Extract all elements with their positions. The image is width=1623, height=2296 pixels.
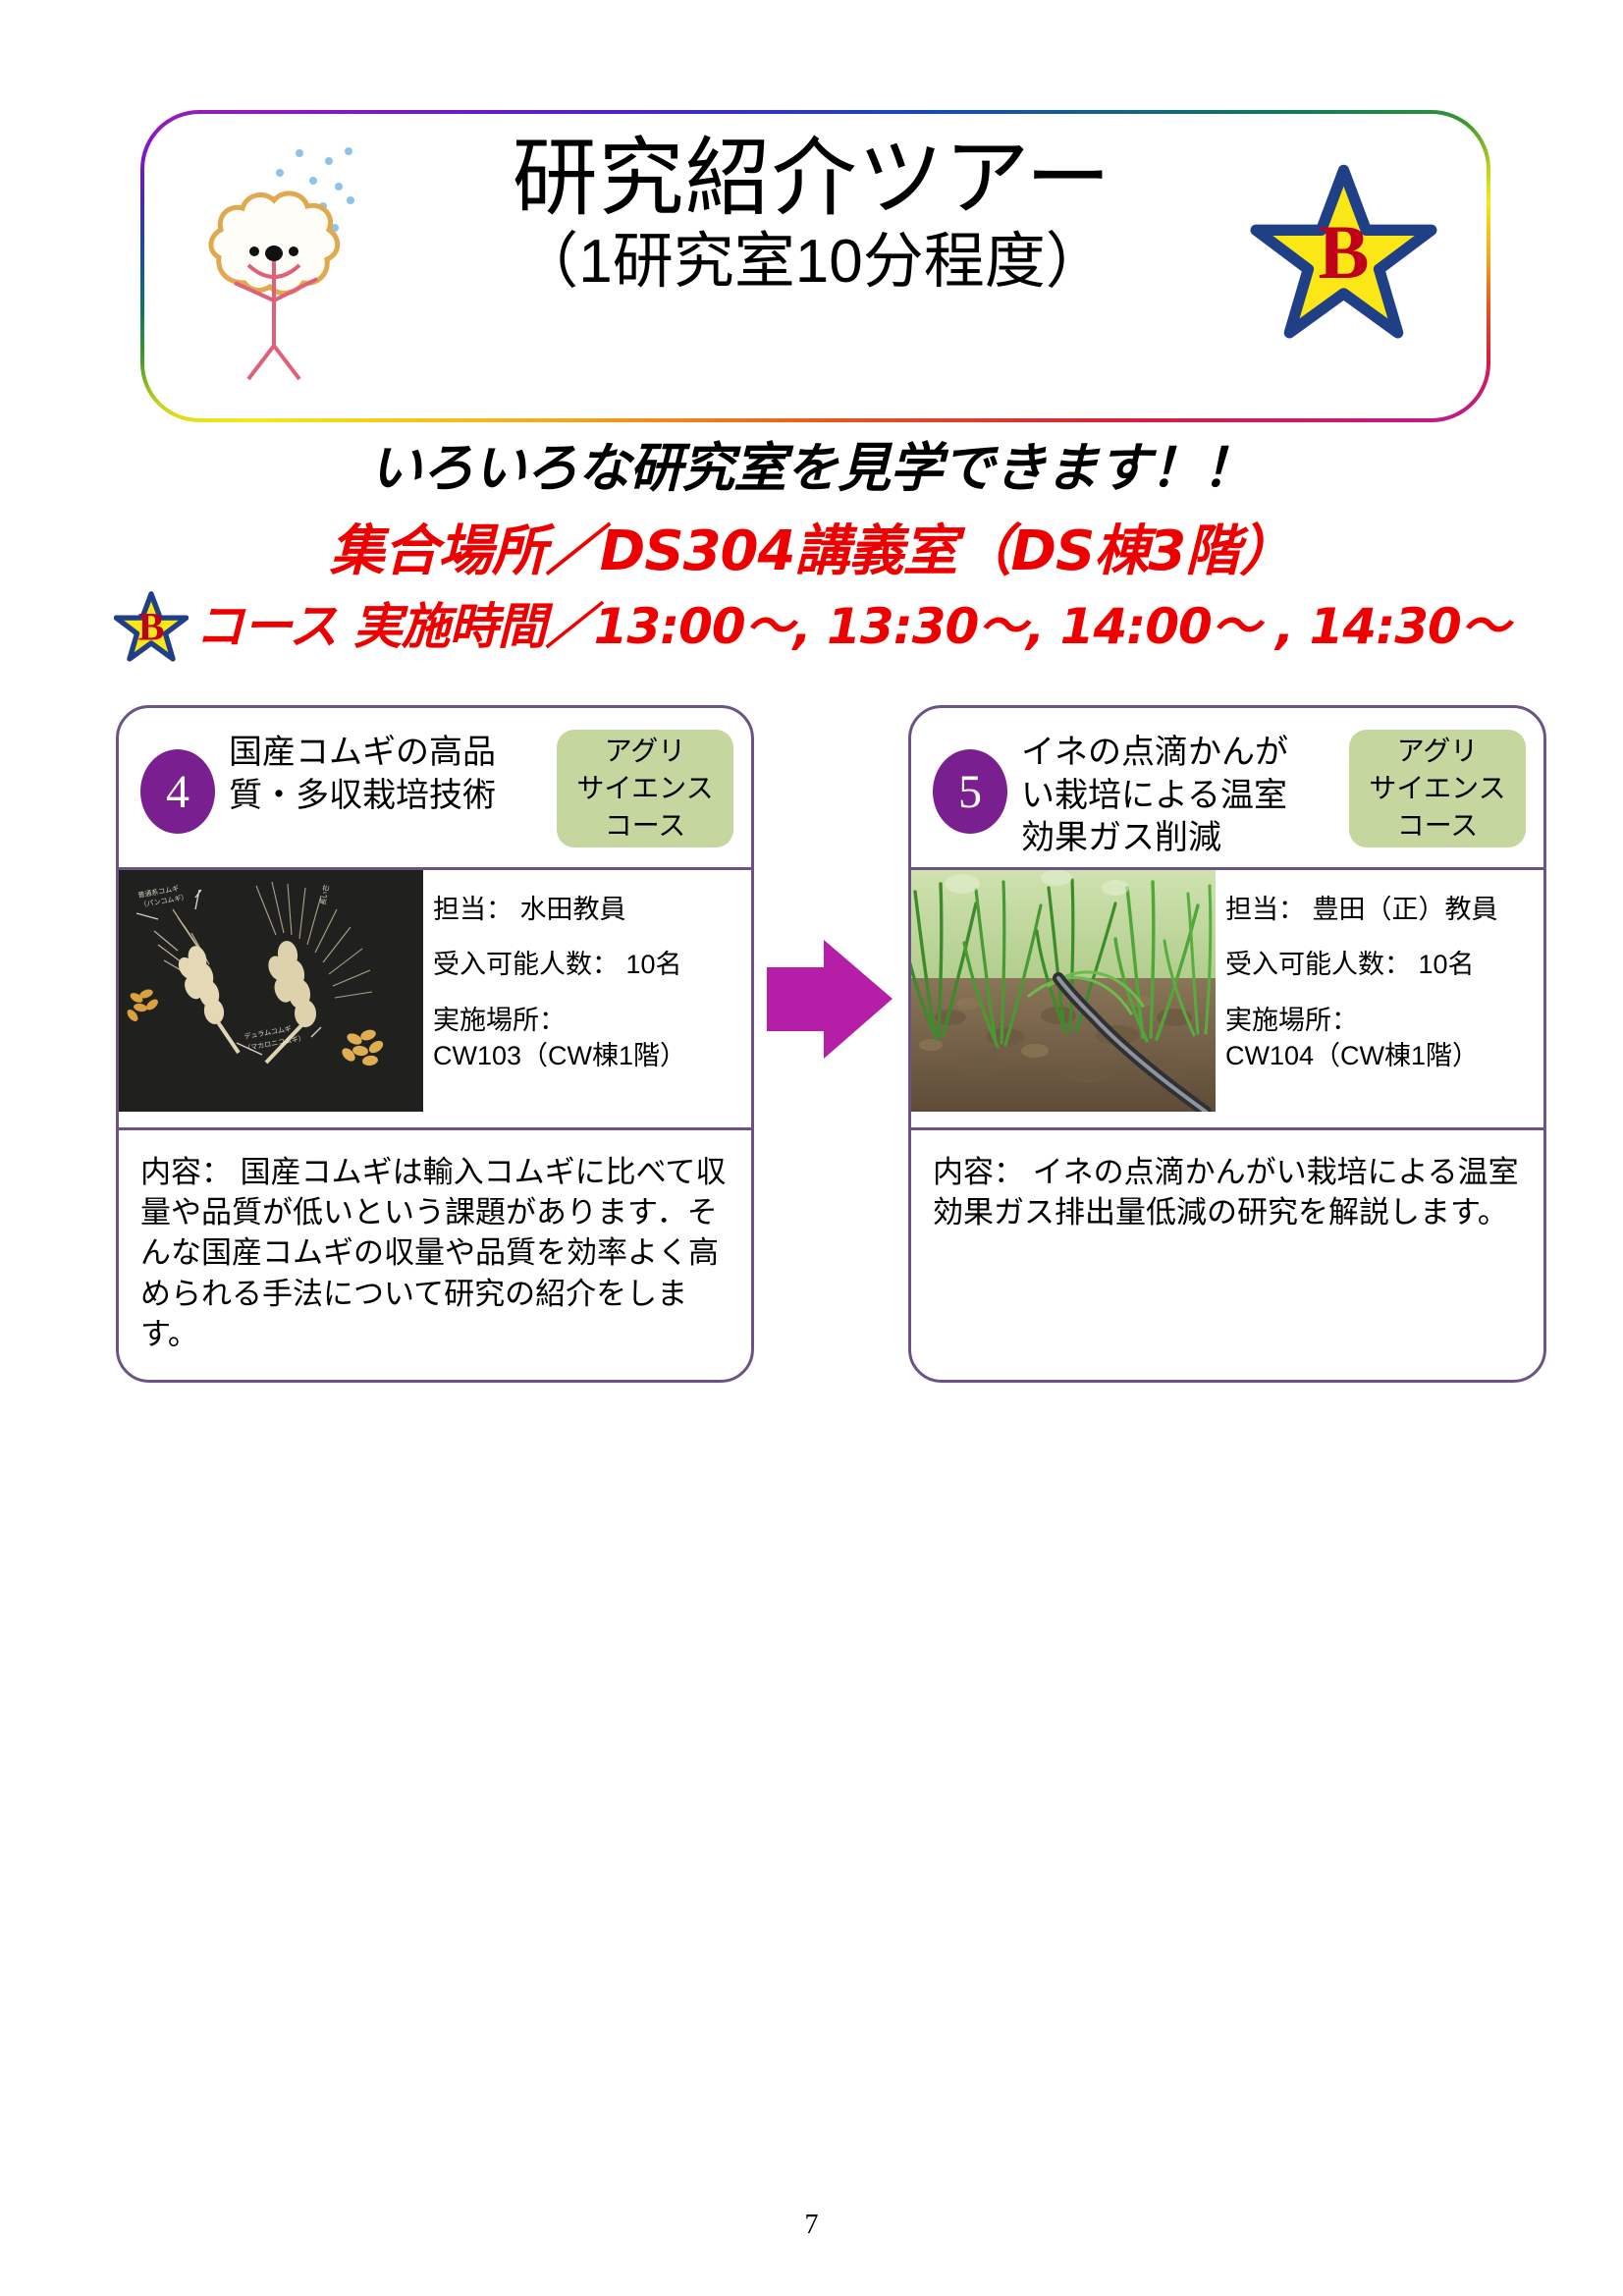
- capacity: 受入可能人数： 10名: [433, 947, 741, 982]
- location-value: CW104（CW棟1階）: [1225, 1038, 1534, 1073]
- card-media-and-meta: 担当： 豊田（正）教員 受入可能人数： 10名 実施場所： CW104（CW棟1…: [911, 870, 1543, 1130]
- headline-red-meeting-place: 集合場所／DS304講義室（DS棟3階）: [0, 507, 1623, 586]
- location-label: 実施場所：: [1225, 1003, 1534, 1038]
- location: 実施場所： CW103（CW棟1階）: [433, 1003, 741, 1074]
- cloud-mascot-icon: [184, 136, 370, 381]
- course-badge: アグリ サイエンス コース: [1349, 730, 1526, 847]
- poster-page: 研究紹介ツアー （1研究室10分程度） B いろいろな研究室を見学できます！！ …: [0, 0, 1623, 2296]
- course-badge-line1: アグリ: [605, 733, 686, 770]
- card-content: 内容： イネの点滴かんがい栽培による温室効果ガス排出量低減の研究を解説します。: [911, 1130, 1543, 1232]
- research-card-4[interactable]: 4 国産コムギの高品質・多収栽培技術 アグリ サイエンス コース: [116, 705, 754, 1383]
- card-number-badge: 5: [933, 749, 1007, 834]
- headline-time-row: B コース 実施時間／13:00〜, 13:30〜, 14:00〜 , 14:3…: [0, 587, 1623, 665]
- card-title: 国産コムギの高品質・多収栽培技術: [229, 732, 523, 817]
- card-media-and-meta: 普通系コムギ （パンコムギ） デュラムコムギ （マカロニコムギ） 長い芒 担当：…: [119, 870, 751, 1130]
- page-number: 7: [0, 2210, 1623, 2241]
- page-title: 研究紹介ツアー: [385, 136, 1239, 223]
- header-banner: 研究紹介ツアー （1研究室10分程度） B: [140, 110, 1490, 422]
- rice-drip-irrigation-photo: [911, 870, 1216, 1112]
- card-meta: 担当： 水田教員 受入可能人数： 10名 実施場所： CW103（CW棟1階）: [433, 892, 741, 1074]
- page-subtitle: （1研究室10分程度）: [385, 229, 1239, 296]
- card-header: 5 イネの点滴かんがい栽培による温室効果ガス削減 アグリ サイエンス コース: [911, 708, 1543, 870]
- instructor: 担当： 水田教員: [433, 892, 741, 927]
- card-title: イネの点滴かんがい栽培による温室効果ガス削減: [1021, 732, 1316, 860]
- headline-black: いろいろな研究室を見学できます！！: [0, 424, 1623, 502]
- course-badge-line2: サイエンス: [576, 770, 713, 807]
- right-arrow-icon: [761, 938, 898, 1061]
- location: 実施場所： CW104（CW棟1階）: [1225, 1003, 1534, 1074]
- capacity: 受入可能人数： 10名: [1225, 947, 1534, 982]
- course-star-badge-b-small: B: [114, 590, 189, 665]
- course-badge-line2: サイエンス: [1369, 770, 1505, 807]
- card-content: 内容： 国産コムギは輸入コムギに比べて収量や品質が低いという課題があります．そん…: [119, 1130, 751, 1354]
- card-meta: 担当： 豊田（正）教員 受入可能人数： 10名 実施場所： CW104（CW棟1…: [1225, 892, 1534, 1074]
- header-banner-inner: 研究紹介ツアー （1研究室10分程度） B: [144, 114, 1487, 418]
- star-letter-small: B: [114, 604, 189, 650]
- location-label: 実施場所：: [433, 1003, 741, 1038]
- title-block: 研究紹介ツアー （1研究室10分程度）: [385, 136, 1239, 296]
- course-star-badge-b: B: [1248, 161, 1439, 348]
- card-header: 4 国産コムギの高品質・多収栽培技術 アグリ サイエンス コース: [119, 708, 751, 870]
- card-number-badge: 4: [140, 749, 215, 834]
- wheat-ears-photo: 普通系コムギ （パンコムギ） デュラムコムギ （マカロニコムギ） 長い芒: [119, 870, 423, 1112]
- course-badge-line1: アグリ: [1397, 733, 1479, 770]
- headline-time-text: コース 実施時間／13:00〜, 13:30〜, 14:00〜 , 14:30〜: [195, 598, 1509, 655]
- star-letter: B: [1248, 208, 1439, 297]
- course-badge-line3: コース: [1397, 807, 1479, 845]
- research-card-5[interactable]: 5 イネの点滴かんがい栽培による温室効果ガス削減 アグリ サイエンス コース: [908, 705, 1546, 1383]
- course-badge: アグリ サイエンス コース: [557, 730, 733, 847]
- course-badge-line3: コース: [605, 807, 686, 845]
- instructor: 担当： 豊田（正）教員: [1225, 892, 1534, 927]
- location-value: CW103（CW棟1階）: [433, 1038, 741, 1073]
